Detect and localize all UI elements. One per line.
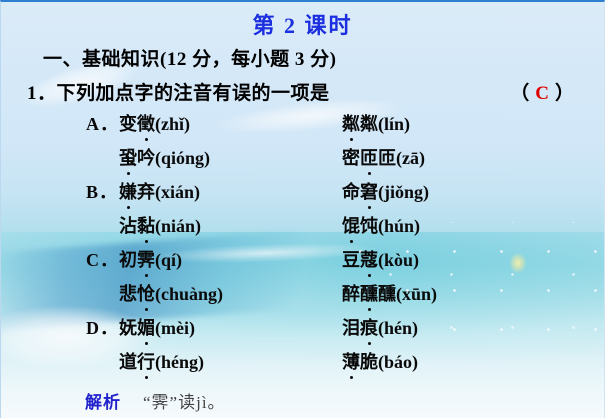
term-suffix: 醺: [378, 284, 396, 304]
term-prefix: 变: [119, 114, 137, 134]
option-term-left: 妩媚(mèi): [119, 314, 195, 340]
term-pinyin: (nián): [155, 216, 201, 236]
term-suffix: 脆: [360, 352, 378, 372]
term-pinyin: (héng): [155, 352, 204, 372]
term-prefix: 沾: [119, 216, 137, 236]
emphasised-character: 行: [137, 348, 155, 374]
emphasised-character: 徵: [137, 110, 155, 136]
option-line: A．变徵(zhǐ)粼粼(lín): [1, 110, 604, 144]
emphasised-character: 馄: [342, 212, 360, 238]
question-text: 下列加点字的注音有误的一项是: [57, 83, 330, 104]
term-suffix: 饨: [360, 216, 378, 236]
term-pinyin: (jiǒng): [378, 182, 429, 202]
option-term-left: 初霁(qí): [119, 246, 182, 272]
option-line: 沾黏(nián)馄饨(hún): [1, 212, 604, 246]
option-term-left: 嫌弃(xián): [119, 178, 200, 204]
term-prefix: 悲: [119, 284, 137, 304]
section-heading: 一、基础知识(12 分，每小题 3 分): [43, 44, 336, 71]
emphasised-character: 黏: [137, 212, 155, 238]
option-label: A．: [86, 110, 119, 136]
analysis-label: 解析: [85, 393, 121, 412]
term-pinyin: (zhǐ): [155, 114, 190, 134]
option-term-right: 豆蔻(kòu): [342, 246, 419, 272]
option-term-right: 馄饨(hún): [342, 212, 420, 238]
term-suffix: 吟: [137, 148, 155, 168]
option-group[interactable]: D．妩媚(mèi)泪痕(hén)道行(héng)薄脆(báo): [1, 314, 604, 382]
term-pinyin: (hún): [378, 216, 420, 236]
option-term-left: 变徵(zhǐ): [119, 110, 190, 136]
option-group[interactable]: B．嫌弃(xián)命窘(jiǒng)沾黏(nián)馄饨(hún): [1, 178, 604, 246]
option-term-right: 泪痕(hén): [342, 314, 418, 340]
emphasised-character: 窘: [360, 178, 378, 204]
term-prefix: 命: [342, 182, 360, 202]
emphasised-character: 粼: [342, 110, 360, 136]
option-line: 道行(héng)薄脆(báo): [1, 348, 604, 382]
option-group[interactable]: C．初霁(qí)豆蔻(kòu)悲怆(chuàng)醉醺醺(xūn): [1, 246, 604, 314]
term-pinyin: (chuàng): [155, 284, 223, 304]
analysis-text: “霁”读jì。: [143, 393, 226, 412]
term-pinyin: (qióng): [155, 148, 210, 168]
term-prefix: 道: [119, 352, 137, 372]
term-pinyin: (qí): [155, 250, 182, 270]
option-line: C．初霁(qí)豆蔻(kòu): [1, 246, 604, 280]
term-pinyin: (xián): [155, 182, 200, 202]
term-prefix: 妩: [119, 318, 137, 338]
option-term-left: 沾黏(nián): [119, 212, 201, 238]
option-term-right: 醉醺醺(xūn): [342, 280, 437, 306]
term-suffix: 弃: [137, 182, 155, 202]
answer-box: （C）: [510, 78, 576, 105]
emphasised-character: 媚: [137, 314, 155, 340]
emphasised-character: 薄: [342, 348, 360, 374]
emphasised-character: 嫌: [119, 178, 137, 204]
term-prefix: 泪: [342, 318, 360, 338]
term-prefix: 初: [119, 250, 137, 270]
option-group[interactable]: A．变徵(zhǐ)粼粼(lín)蛩吟(qióng)密匝匝(zā): [1, 110, 604, 178]
emphasised-character: 醺: [360, 280, 378, 306]
emphasised-character: 蛩: [119, 144, 137, 170]
option-term-right: 密匝匝(zā): [342, 144, 425, 170]
question-stem: 1．下列加点字的注音有误的一项是: [27, 78, 330, 105]
option-line: 蛩吟(qióng)密匝匝(zā): [1, 144, 604, 178]
option-label: D．: [86, 314, 119, 340]
question-row: 1．下列加点字的注音有误的一项是 （C）: [27, 78, 576, 105]
answer-letter: C: [531, 83, 555, 104]
term-pinyin: (báo): [378, 352, 418, 372]
option-term-left: 悲怆(chuàng): [119, 280, 223, 306]
option-term-left: 道行(héng): [119, 348, 204, 374]
term-pinyin: (lín): [378, 114, 410, 134]
term-prefix: 密: [342, 148, 360, 168]
option-term-left: 蛩吟(qióng): [119, 144, 210, 170]
emphasised-character: 蔻: [360, 246, 378, 272]
term-pinyin: (zā): [396, 148, 425, 168]
term-pinyin: (kòu): [378, 250, 419, 270]
term-pinyin: (mèi): [155, 318, 195, 338]
option-line: B．嫌弃(xián)命窘(jiǒng): [1, 178, 604, 212]
term-prefix: 豆: [342, 250, 360, 270]
answer-paren-open: （: [510, 83, 531, 104]
option-line: D．妩媚(mèi)泪痕(hén): [1, 314, 604, 348]
option-label: C．: [86, 246, 119, 272]
question-number: 1．: [27, 83, 57, 104]
answer-paren-close: ）: [555, 83, 576, 104]
term-prefix: 醉: [342, 284, 360, 304]
emphasised-character: 匝: [360, 144, 378, 170]
slide-canvas: 第 2 课时 一、基础知识(12 分，每小题 3 分) 1．下列加点字的注音有误…: [0, 0, 605, 418]
option-term-right: 命窘(jiǒng): [342, 178, 429, 204]
term-pinyin: (hén): [378, 318, 418, 338]
page-title: 第 2 课时: [1, 8, 604, 40]
option-line: 悲怆(chuàng)醉醺醺(xūn): [1, 280, 604, 314]
analysis-row: 解析“霁”读jì。: [85, 388, 226, 413]
term-pinyin: (xūn): [396, 284, 437, 304]
options-list: A．变徵(zhǐ)粼粼(lín)蛩吟(qióng)密匝匝(zā)B．嫌弃(xiá…: [1, 110, 604, 382]
term-suffix: 粼: [360, 114, 378, 134]
emphasised-character: 痕: [360, 314, 378, 340]
option-label: B．: [86, 178, 118, 204]
option-term-right: 粼粼(lín): [342, 110, 410, 136]
option-term-right: 薄脆(báo): [342, 348, 418, 374]
emphasised-character: 怆: [137, 280, 155, 306]
emphasised-character: 霁: [137, 246, 155, 272]
term-suffix: 匝: [378, 148, 396, 168]
